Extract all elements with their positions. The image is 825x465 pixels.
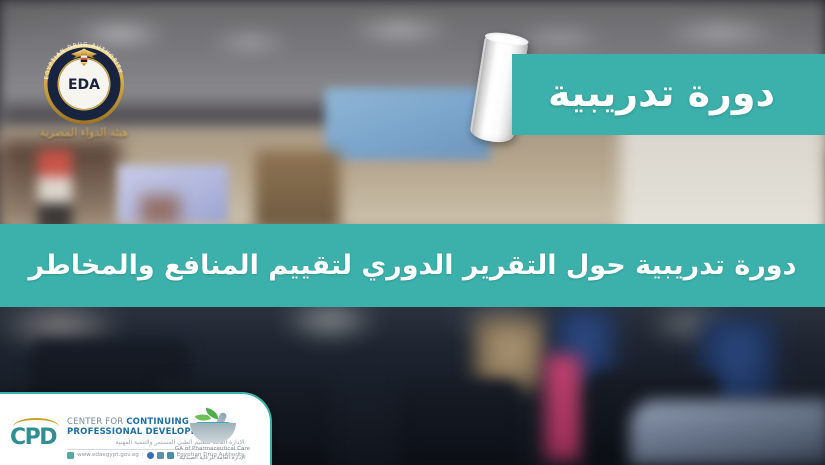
- cpd-monogram: CPD: [10, 425, 62, 451]
- contact-separator: |: [142, 452, 144, 458]
- pharmaceutical-care-logo: GA of Pharmaceutical Care الإدارة العامة…: [165, 410, 260, 462]
- ribbon-label: دورة تدريبية: [512, 54, 825, 135]
- photo-flag: [38, 150, 72, 232]
- photo-right-wall: [620, 120, 825, 240]
- pharmaceutical-care-arabic: الإدارة العامة للرعاية الصيدلية: [179, 454, 245, 462]
- photo-attendee-4: [545, 355, 581, 460]
- cpd-logo: CPD CENTER FOR CONTINUING PROFESSIONAL D…: [10, 413, 165, 459]
- footer-logo-panel: CPD CENTER FOR CONTINUING PROFESSIONAL D…: [0, 392, 272, 465]
- photo-podium: [255, 150, 340, 230]
- globe-icon: [67, 452, 74, 459]
- mortar-bowl-shape: [190, 423, 236, 443]
- photo-projector-screen: [325, 88, 490, 160]
- cpd-line1-prefix: CENTER FOR: [67, 417, 126, 427]
- eda-seal-icon: EDA EGYPTIAN DRUG AUTHORITY: [40, 38, 128, 126]
- eda-arabic-name: هيئة الدواء المصرية: [34, 126, 134, 150]
- photo-monitor-content: [140, 195, 180, 225]
- cpd-monogram-mark: CPD: [10, 418, 62, 452]
- eda-logo: EDA EGYPTIAN DRUG AUTHORITY هيئة الدواء …: [34, 22, 134, 150]
- svg-text:EDA: EDA: [68, 77, 100, 93]
- facebook-icon[interactable]: [147, 452, 154, 459]
- title-bar: دورة تدريبية حول التقرير الدوري لتقييم ا…: [0, 224, 825, 307]
- photo-chair: [400, 380, 520, 465]
- mortar-and-pestle-icon: [188, 410, 238, 444]
- linkedin-icon[interactable]: [157, 452, 164, 459]
- page-title: دورة تدريبية حول التقرير الدوري لتقييم ا…: [7, 250, 819, 281]
- cpd-website[interactable]: www.edaegypt.gov.eg: [77, 452, 139, 458]
- photo-attendee-1: [475, 318, 545, 388]
- photo-table: [630, 400, 825, 465]
- ribbon-banner: دورة تدريبية: [512, 54, 825, 135]
- poster-canvas: EDA EGYPTIAN DRUG AUTHORITY هيئة الدواء …: [0, 0, 825, 465]
